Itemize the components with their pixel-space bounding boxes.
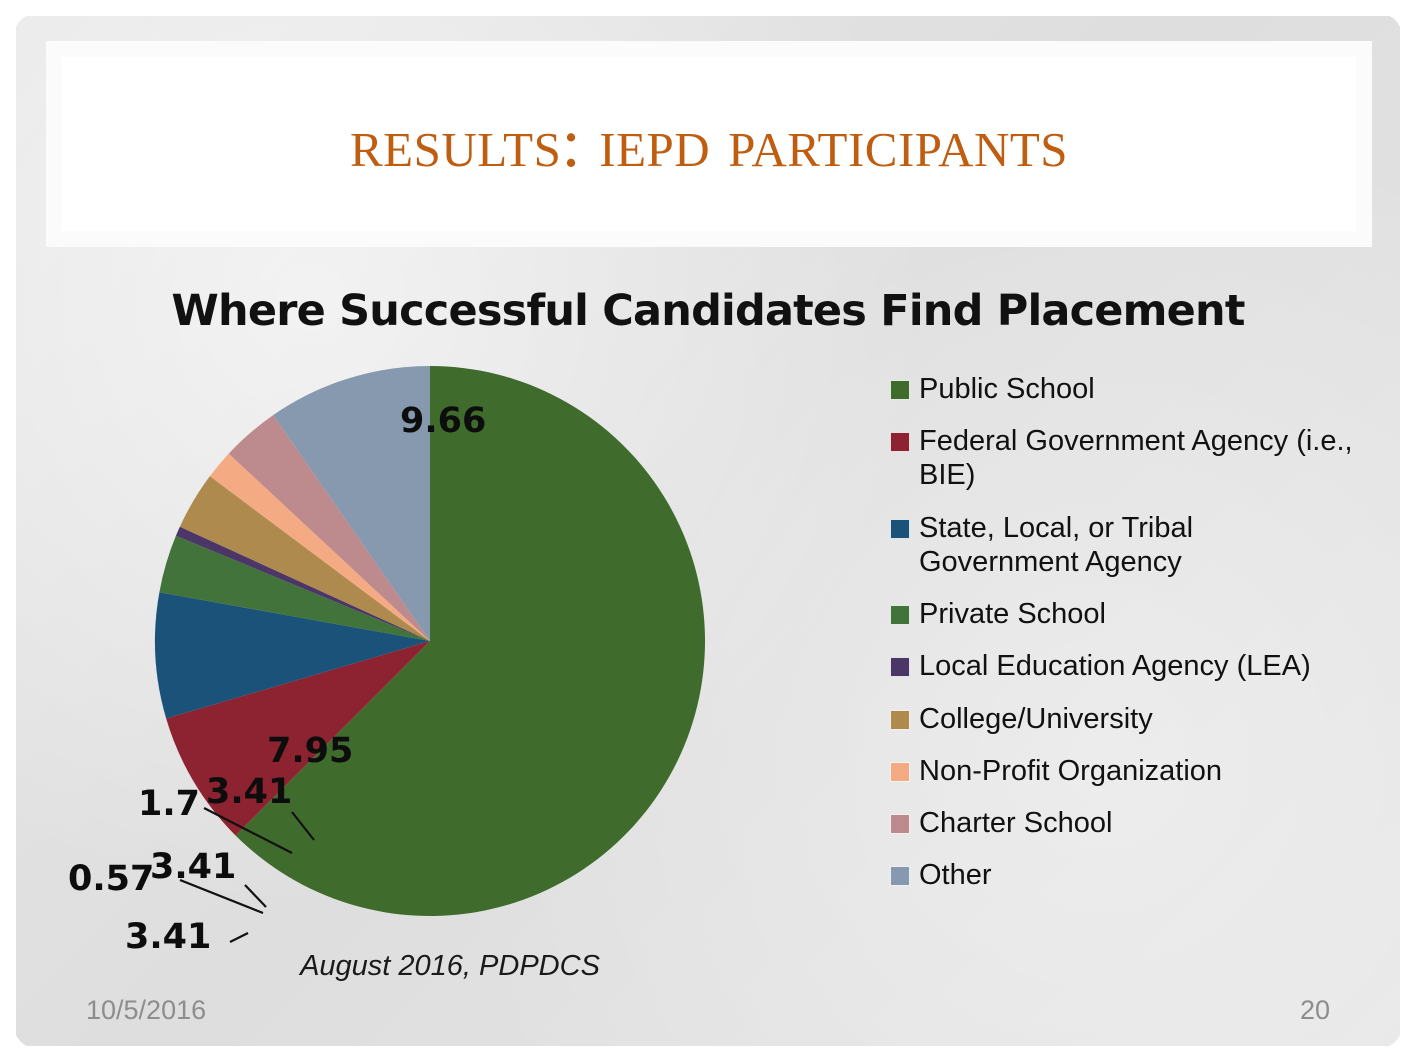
pie-leader-line xyxy=(245,885,266,907)
legend-item[interactable]: College/University xyxy=(890,702,1360,736)
slide-title-box: Results: IEPD Participants xyxy=(62,57,1356,231)
chart-legend: Public SchoolFederal Government Agency (… xyxy=(890,372,1360,910)
slide-title-frame: Results: IEPD Participants xyxy=(46,41,1372,247)
pie-data-label: 0.57 xyxy=(68,859,154,899)
pie-chart-svg: 62.57.957.393.410.573.411.73.419.66 xyxy=(30,360,860,950)
legend-swatch-icon xyxy=(890,380,910,400)
legend-item-label: College/University xyxy=(919,702,1153,736)
footer-page-number: 20 xyxy=(1300,995,1330,1026)
legend-item[interactable]: Charter School xyxy=(890,806,1360,840)
legend-item[interactable]: Non-Profit Organization xyxy=(890,754,1360,788)
legend-item[interactable]: Federal Government Agency (i.e., BIE) xyxy=(890,424,1360,492)
legend-item-label: State, Local, or Tribal Government Agenc… xyxy=(919,511,1360,579)
legend-swatch-icon xyxy=(890,710,910,730)
legend-swatch-icon xyxy=(890,866,910,886)
pie-leader-line xyxy=(230,933,248,942)
chart-source-note: August 2016, PDPDCS xyxy=(140,950,760,983)
legend-swatch-icon xyxy=(890,657,910,677)
legend-item[interactable]: Public School xyxy=(890,372,1360,406)
pie-slice-group xyxy=(155,366,705,916)
pie-data-label: 3.41 xyxy=(206,772,292,812)
legend-swatch-icon xyxy=(890,814,910,834)
edge-mask-right xyxy=(1400,0,1416,1062)
legend-item[interactable]: State, Local, or Tribal Government Agenc… xyxy=(890,511,1360,579)
edge-mask-left xyxy=(0,0,16,1062)
pie-data-label: 3.41 xyxy=(150,847,236,887)
legend-swatch-icon xyxy=(890,519,910,539)
legend-swatch-icon xyxy=(890,432,910,452)
legend-swatch-icon xyxy=(890,762,910,782)
chart-title: Where Successful Candidates Find Placeme… xyxy=(0,286,1416,336)
legend-item-label: Private School xyxy=(919,597,1106,631)
legend-item-label: Local Education Agency (LEA) xyxy=(919,649,1311,683)
legend-item-label: Non-Profit Organization xyxy=(919,754,1222,788)
pie-data-label: 9.66 xyxy=(400,401,486,441)
legend-item[interactable]: Local Education Agency (LEA) xyxy=(890,649,1360,683)
legend-item[interactable]: Private School xyxy=(890,597,1360,631)
page-title: Results: IEPD Participants xyxy=(350,107,1068,181)
legend-swatch-icon xyxy=(890,605,910,625)
legend-item-label: Federal Government Agency (i.e., BIE) xyxy=(919,424,1360,492)
legend-item-label: Charter School xyxy=(919,806,1112,840)
edge-mask-bottom xyxy=(0,1046,1416,1062)
footer-date: 10/5/2016 xyxy=(86,995,206,1026)
legend-item[interactable]: Other xyxy=(890,858,1360,892)
pie-data-label: 3.41 xyxy=(125,917,211,950)
edge-mask-top xyxy=(0,0,1416,16)
legend-item-label: Public School xyxy=(919,372,1095,406)
slide-canvas: Results: IEPD Participants Where Success… xyxy=(0,0,1416,1062)
pie-data-label: 1.7 xyxy=(138,784,200,824)
pie-chart: 62.57.957.393.410.573.411.73.419.66 xyxy=(30,360,860,950)
legend-item-label: Other xyxy=(919,858,992,892)
pie-data-label: 7.95 xyxy=(267,731,353,771)
